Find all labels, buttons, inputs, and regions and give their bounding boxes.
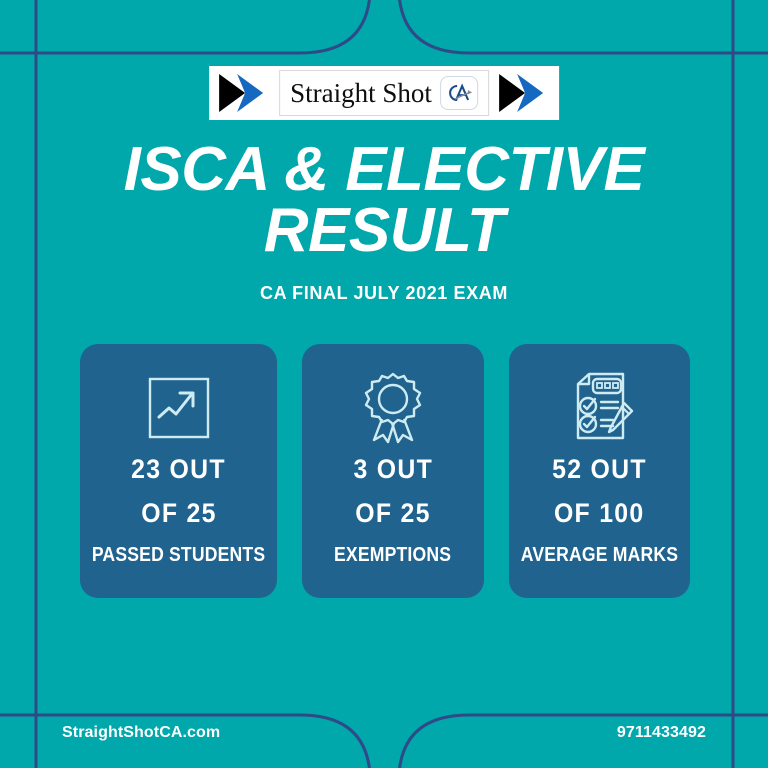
footer-website[interactable]: StraightShotCA.com (62, 724, 220, 742)
stat-card-passed-students: 23 OUT OF 25 PASSED STUDENTS (80, 344, 277, 598)
double-chevron-right-icon (217, 71, 271, 115)
double-chevron-right-icon (497, 71, 551, 115)
stat-card-exemptions: 3 OUT OF 25 EXEMPTIONS (302, 344, 483, 598)
logo-wordmark-box: Straight Shot (279, 70, 489, 116)
logo-wordmark: Straight Shot (290, 80, 432, 107)
ca-badge-icon (440, 76, 478, 110)
logo-right-arrows (495, 66, 553, 120)
page-subtitle: CA FINAL JULY 2021 EXAM (0, 283, 768, 304)
stat-card-average-marks: 52 OUT OF 100 AVERAGE MARKS (509, 344, 690, 598)
page-title: ISCA & ELECTIVE RESULT (0, 139, 768, 262)
deco-bottom-arc-right (399, 715, 469, 768)
deco-top-arc-right (399, 0, 469, 53)
deco-bottom-arc-left (300, 715, 370, 768)
logo-left-arrows (215, 66, 273, 120)
stat-value-line-2: OF 25 (141, 500, 216, 527)
stat-label: PASSED STUDENTS (92, 544, 265, 567)
stats-card-row: 23 OUT OF 25 PASSED STUDENTS 3 OUT OF 25… (80, 344, 690, 598)
growth-chart-icon (146, 366, 212, 450)
stat-value-line-1: 23 OUT (131, 456, 226, 483)
stat-value-line-2: OF 100 (554, 500, 645, 527)
stat-value-line-1: 52 OUT (552, 456, 647, 483)
award-ribbon-icon (358, 366, 428, 450)
checklist-document-pencil-icon (561, 366, 637, 450)
deco-top-arc-left (300, 0, 370, 53)
result-poster: Straight Shot ISCA & ELECTIVE RESULT CA … (0, 0, 768, 768)
footer-phone[interactable]: 9711433492 (617, 724, 706, 742)
stat-value-line-1: 3 OUT (353, 456, 433, 483)
stat-label: EXEMPTIONS (334, 544, 451, 567)
brand-logo: Straight Shot (209, 66, 559, 120)
stat-value-line-2: OF 25 (355, 500, 430, 527)
stat-label: AVERAGE MARKS (521, 544, 678, 567)
